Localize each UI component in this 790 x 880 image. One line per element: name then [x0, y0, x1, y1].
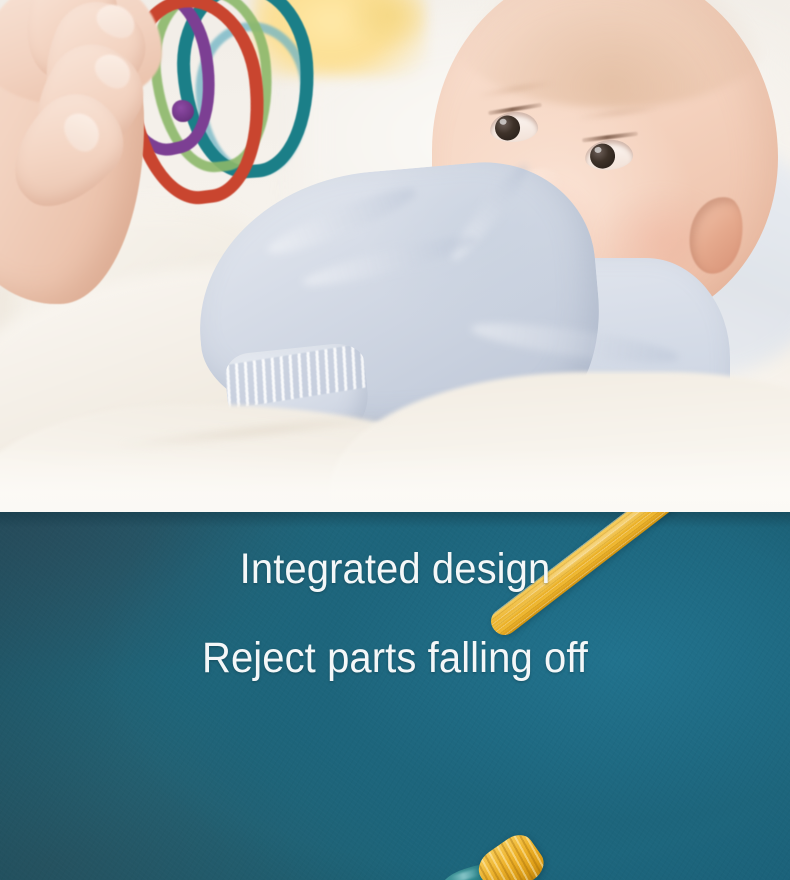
baby-iris-right — [589, 143, 616, 170]
banner-vignette — [0, 512, 790, 880]
feature-banner: Integrated design Reject parts falling o… — [0, 512, 790, 880]
baby-iris-left — [494, 115, 521, 142]
lifestyle-photo — [0, 0, 790, 512]
photo-bottom-fade — [0, 448, 790, 512]
blurred-yellow-toy-core — [348, 0, 427, 46]
product-feature-page: Integrated design Reject parts falling o… — [0, 0, 790, 880]
adult-hand — [0, 0, 234, 344]
